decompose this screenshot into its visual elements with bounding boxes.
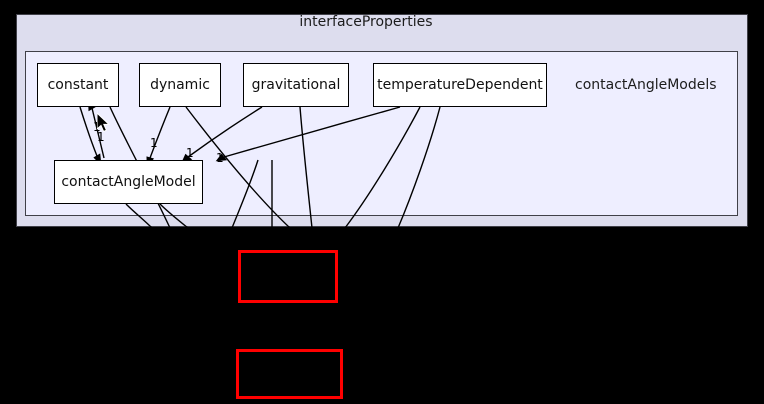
node-contact-angle-model-label: contactAngleModel [61,174,195,190]
red-box-upper[interactable] [238,250,338,303]
node-temperature-dependent-label: temperatureDependent [377,77,543,93]
edge-label-5: 1 [216,151,224,165]
red-box-lower[interactable] [236,349,343,399]
black-bottom-pane [0,228,764,404]
cluster-interface-properties-label: interfaceProperties [0,14,732,30]
node-gravitational[interactable]: gravitational [243,63,349,107]
graph-canvas: interfaceProperties contactAngleModels [0,0,764,404]
node-gravitational-label: gravitational [252,77,341,93]
node-dynamic-label: dynamic [150,77,210,93]
mouse-pointer-icon [97,113,111,133]
black-top-pane [0,0,764,14]
node-constant-label: constant [48,77,109,93]
node-dynamic[interactable]: dynamic [139,63,221,107]
node-temperature-dependent[interactable]: temperatureDependent [373,63,547,107]
edge-label-4: 1 [186,146,194,160]
cluster-contact-angle-models-label: contactAngleModels [575,77,717,93]
node-contact-angle-model[interactable]: contactAngleModel [54,160,203,204]
edge-label-3: 1 [150,136,158,150]
node-constant[interactable]: constant [37,63,119,107]
